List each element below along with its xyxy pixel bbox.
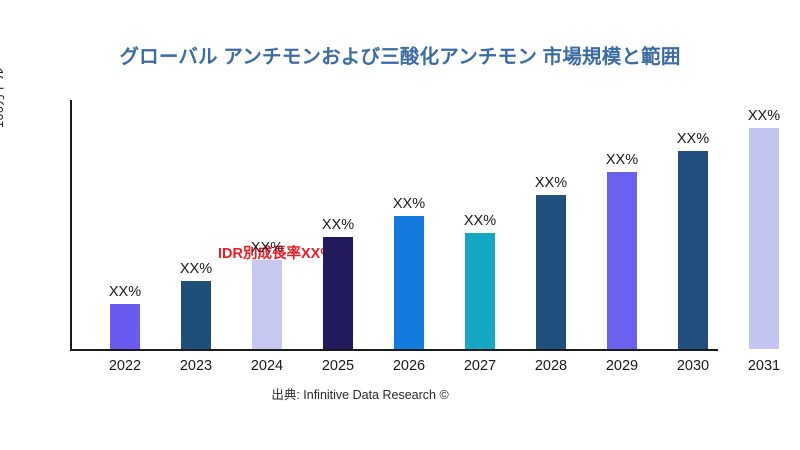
bar-2022[interactable] bbox=[110, 304, 140, 349]
x-axis-line bbox=[70, 349, 718, 351]
y-axis-line bbox=[70, 100, 72, 351]
bar-group: XX% bbox=[252, 260, 282, 349]
x-tick-label-2031: 2031 bbox=[734, 358, 794, 374]
plot-area: IDR別成長率XX% XX%XX%XX%XX%XX%XX%XX%XX%XX%XX… bbox=[70, 100, 780, 351]
bar-value-label: XX% bbox=[322, 217, 354, 233]
bar-group: XX% bbox=[394, 216, 424, 349]
bar-group: XX% bbox=[678, 151, 708, 349]
bar-value-label: XX% bbox=[606, 152, 638, 168]
source-note: 出典: Infinitive Data Research © bbox=[0, 384, 720, 403]
bar-value-label: XX% bbox=[677, 131, 709, 147]
bar-value-label: XX% bbox=[180, 261, 212, 277]
bar-value-label: XX% bbox=[748, 108, 780, 124]
bar-value-label: XX% bbox=[251, 240, 283, 256]
bar-value-label: XX% bbox=[393, 196, 425, 212]
bar-2029[interactable] bbox=[607, 172, 637, 349]
bar-2026[interactable] bbox=[394, 216, 424, 349]
bar-group: XX% bbox=[749, 128, 779, 349]
x-tick-label-2030: 2030 bbox=[663, 358, 723, 374]
chart-title: グローバル アンチモンおよび三酸化アンチモン 市場規模と範囲 bbox=[0, 40, 800, 69]
bar-2031[interactable] bbox=[749, 128, 779, 349]
bar-group: XX% bbox=[323, 237, 353, 349]
x-tick-label-2025: 2025 bbox=[308, 358, 368, 374]
bar-value-label: XX% bbox=[535, 175, 567, 191]
bar-value-label: XX% bbox=[109, 284, 141, 300]
bar-2024[interactable] bbox=[252, 260, 282, 349]
bar-2027[interactable] bbox=[465, 233, 495, 349]
x-tick-label-2028: 2028 bbox=[521, 358, 581, 374]
bar-2028[interactable] bbox=[536, 195, 566, 349]
x-tick-label-2022: 2022 bbox=[95, 358, 155, 374]
bar-group: XX% bbox=[536, 195, 566, 349]
chart-container: グローバル アンチモンおよび三酸化アンチモン 市場規模と範囲 100万ドル ID… bbox=[0, 0, 800, 450]
x-tick-label-2027: 2027 bbox=[450, 358, 510, 374]
bar-value-label: XX% bbox=[464, 213, 496, 229]
bar-group: XX% bbox=[607, 172, 637, 349]
bar-group: XX% bbox=[110, 304, 140, 349]
bar-group: XX% bbox=[181, 281, 211, 349]
y-axis-label: 100万ドル bbox=[0, 67, 7, 128]
bar-2030[interactable] bbox=[678, 151, 708, 349]
x-tick-label-2029: 2029 bbox=[592, 358, 652, 374]
bar-group: XX% bbox=[465, 233, 495, 349]
x-tick-label-2023: 2023 bbox=[166, 358, 226, 374]
x-tick-label-2024: 2024 bbox=[237, 358, 297, 374]
bar-2025[interactable] bbox=[323, 237, 353, 349]
bar-2023[interactable] bbox=[181, 281, 211, 349]
x-tick-label-2026: 2026 bbox=[379, 358, 439, 374]
